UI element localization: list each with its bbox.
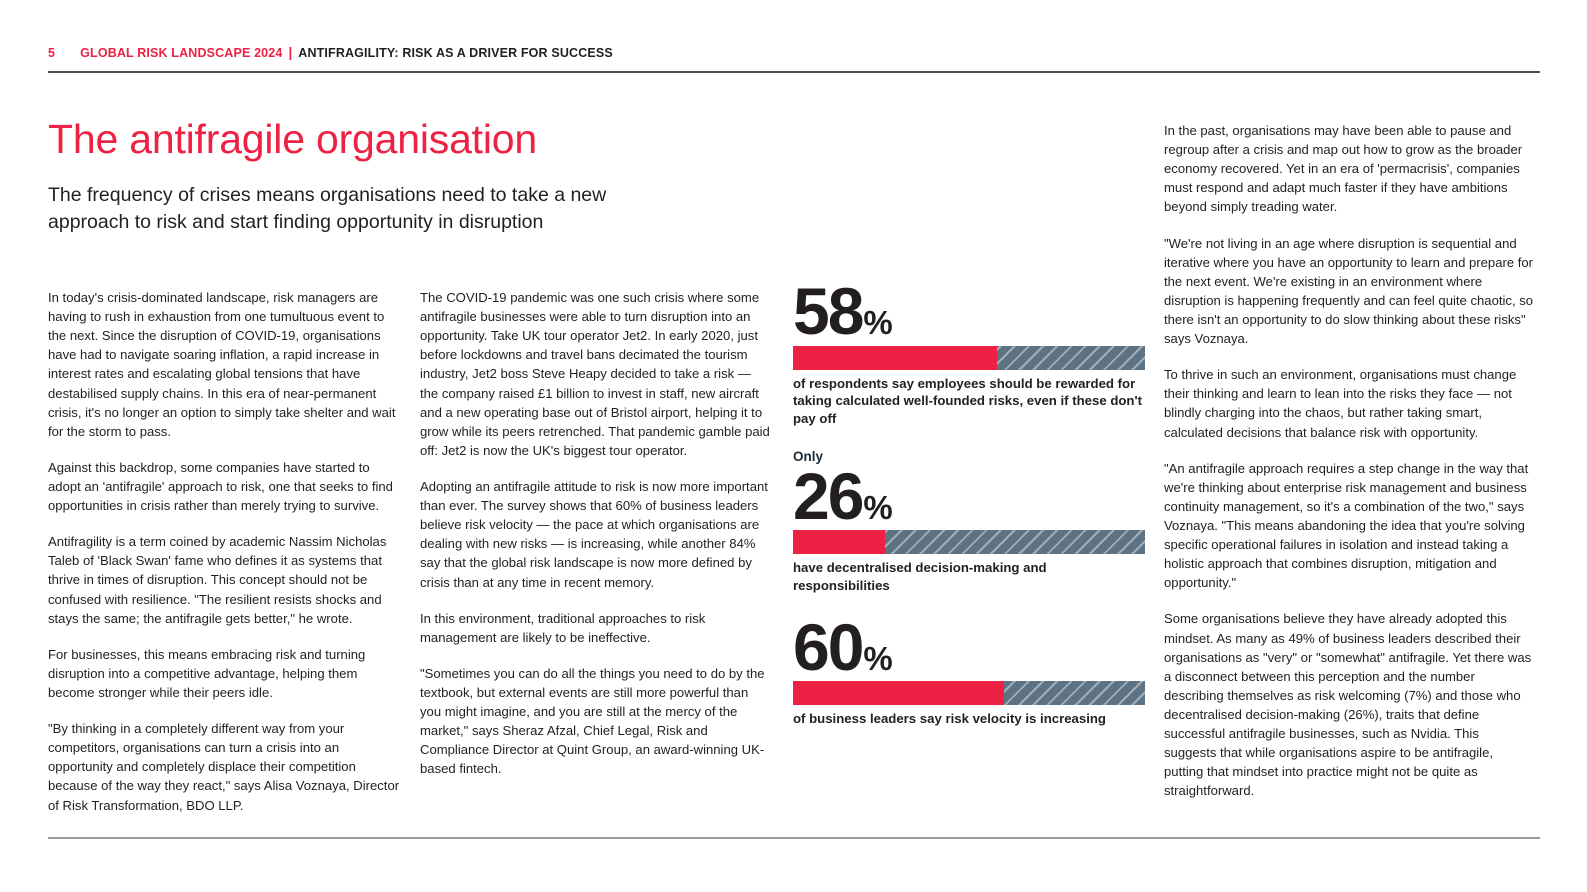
stat-value: 58 bbox=[793, 281, 862, 342]
progress-bar bbox=[793, 346, 1145, 370]
paragraph: In today's crisis-dominated landscape, r… bbox=[48, 288, 400, 441]
header-brand-title: GLOBAL RISK LANDSCAPE 2024 bbox=[80, 46, 282, 60]
percent-symbol: % bbox=[863, 308, 891, 338]
page-header: 5 GLOBAL RISK LANDSCAPE 2024 | ANTIFRAGI… bbox=[48, 45, 1540, 60]
paragraph: Antifragility is a term coined by academ… bbox=[48, 532, 400, 628]
stat-block-60: 60 % of business leaders say risk veloci… bbox=[793, 617, 1145, 728]
stat-value-row: 26 % bbox=[793, 466, 1145, 527]
bar-fill bbox=[793, 346, 997, 370]
header-separator: | bbox=[288, 45, 292, 60]
paragraph: The COVID-19 pandemic was one such crisi… bbox=[420, 288, 772, 460]
stat-value: 26 bbox=[793, 466, 862, 527]
progress-bar bbox=[793, 681, 1145, 705]
paragraph: Some organisations believe they have alr… bbox=[1164, 609, 1534, 800]
bar-fill bbox=[793, 530, 885, 554]
paragraph: To thrive in such an environment, organi… bbox=[1164, 365, 1534, 441]
paragraph: "Sometimes you can do all the things you… bbox=[420, 664, 772, 779]
stat-value-row: 58 % bbox=[793, 281, 1145, 342]
progress-bar bbox=[793, 530, 1145, 554]
stat-value: 60 bbox=[793, 617, 862, 678]
paragraph: For businesses, this means embracing ris… bbox=[48, 645, 400, 702]
paragraph: "An antifragile approach requires a step… bbox=[1164, 459, 1534, 593]
stat-block-58: 58 % of respondents say employees should… bbox=[793, 281, 1145, 428]
paragraph: Adopting an antifragile attitude to risk… bbox=[420, 477, 772, 592]
stat-value-row: 60 % bbox=[793, 617, 1145, 678]
page-title: The antifragile organisation bbox=[48, 117, 748, 161]
percent-symbol: % bbox=[863, 493, 891, 523]
page-subtitle: The frequency of crises means organisati… bbox=[48, 182, 648, 236]
body-column-1: In today's crisis-dominated landscape, r… bbox=[48, 288, 400, 815]
paragraph: Against this backdrop, some companies ha… bbox=[48, 458, 400, 515]
body-column-4: In the past, organisations may have been… bbox=[1164, 121, 1534, 801]
body-column-2: The COVID-19 pandemic was one such crisi… bbox=[420, 288, 772, 779]
stat-caption: of business leaders say risk velocity is… bbox=[793, 710, 1145, 728]
paragraph: "We're not living in an age where disrup… bbox=[1164, 234, 1534, 349]
header-divider-rule bbox=[48, 71, 1540, 73]
paragraph: In the past, organisations may have been… bbox=[1164, 121, 1534, 217]
paragraph: "By thinking in a completely different w… bbox=[48, 719, 400, 815]
percent-symbol: % bbox=[863, 644, 891, 674]
document-page: 5 GLOBAL RISK LANDSCAPE 2024 | ANTIFRAGI… bbox=[0, 0, 1587, 892]
paragraph: In this environment, traditional approac… bbox=[420, 609, 772, 647]
header-section-title: ANTIFRAGILITY: RISK AS A DRIVER FOR SUCC… bbox=[298, 46, 613, 60]
stat-block-26: Only 26 % have decentralised decision-ma… bbox=[793, 450, 1145, 595]
stat-caption: of respondents say employees should be r… bbox=[793, 375, 1145, 428]
bar-fill bbox=[793, 681, 1004, 705]
header-page-number: 5 bbox=[48, 46, 55, 60]
footer-divider-rule bbox=[48, 837, 1540, 839]
statistics-column: 58 % of respondents say employees should… bbox=[793, 280, 1145, 728]
stat-caption: have decentralised decision-making and r… bbox=[793, 559, 1145, 594]
